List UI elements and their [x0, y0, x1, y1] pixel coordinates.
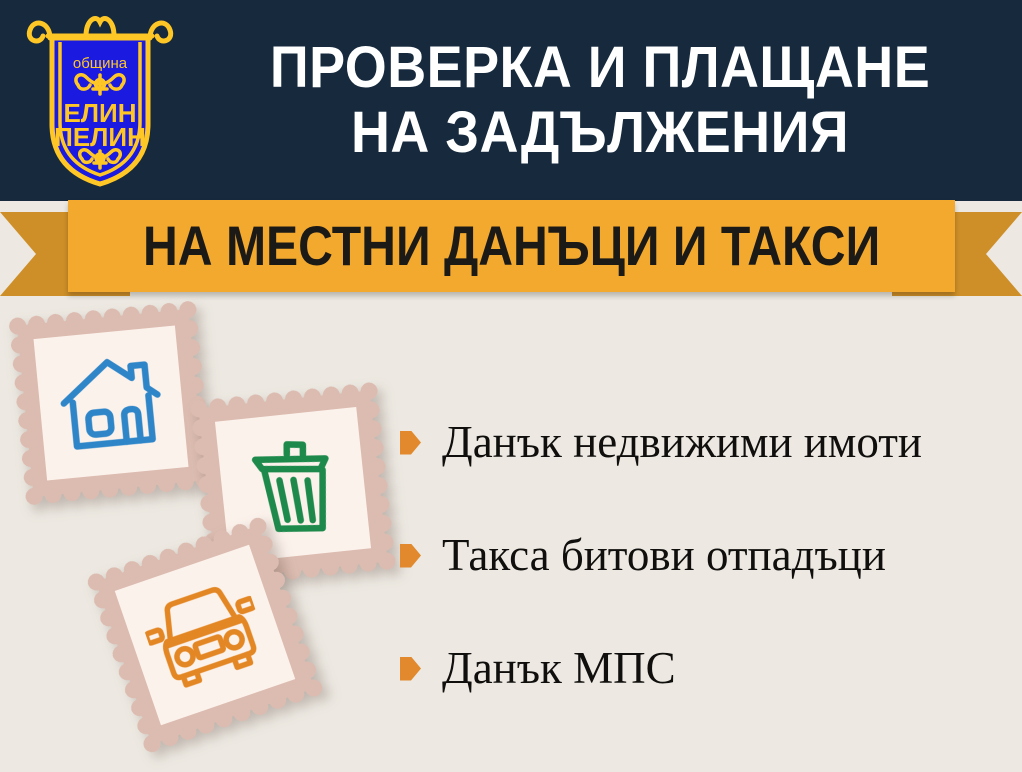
- arrow-bullet-icon: [400, 544, 421, 568]
- subtitle-ribbon: НА МЕСТНИ ДАНЪЦИ И ТАКСИ: [0, 200, 1022, 310]
- list-item-label: Данък МПС: [442, 646, 676, 691]
- car-front-icon: [137, 573, 273, 696]
- arrow-bullet-icon: [400, 431, 421, 455]
- list-item[interactable]: Данък недвижими имоти: [400, 420, 1010, 465]
- stamp-paper: [34, 326, 189, 481]
- poster-body: Данък недвижими имоти Такса битови отпад…: [0, 290, 1022, 772]
- logo-label-top: община: [73, 55, 128, 72]
- list-item[interactable]: Данък МПС: [400, 646, 1010, 691]
- ribbon-panel: НА МЕСТНИ ДАНЪЦИ И ТАКСИ: [68, 200, 955, 292]
- logo-label-name-2: ПЕЛИН: [54, 122, 146, 152]
- elin-pelin-coat-of-arms-icon: община ЕЛИН ПЕЛИН: [20, 12, 180, 190]
- poster-header: община ЕЛИН ПЕЛИН: [0, 0, 1022, 201]
- list-item-label: Такса битови отпадъци: [442, 533, 886, 578]
- page-title: ПРОВЕРКА И ПЛАЩАНЕ НА ЗАДЪЛЖЕНИЯ: [200, 36, 1022, 166]
- ribbon-label: НА МЕСТНИ ДАНЪЦИ И ТАКСИ: [143, 218, 880, 274]
- stamp-card-property: [7, 299, 214, 506]
- page-title-line-1: ПРОВЕРКА И ПЛАЩАНЕ: [228, 36, 972, 101]
- house-icon: [55, 350, 168, 456]
- arrow-bullet-icon: [400, 657, 421, 681]
- list-item[interactable]: Такса битови отпадъци: [400, 533, 1010, 578]
- poster-root: община ЕЛИН ПЕЛИН: [0, 0, 1022, 772]
- list-item-label: Данък недвижими имоти: [442, 420, 922, 465]
- tax-type-list: Данък недвижими имоти Такса битови отпад…: [400, 420, 1010, 691]
- page-title-line-2: НА ЗАДЪЛЖЕНИЯ: [228, 101, 972, 166]
- municipality-logo: община ЕЛИН ПЕЛИН: [0, 0, 200, 201]
